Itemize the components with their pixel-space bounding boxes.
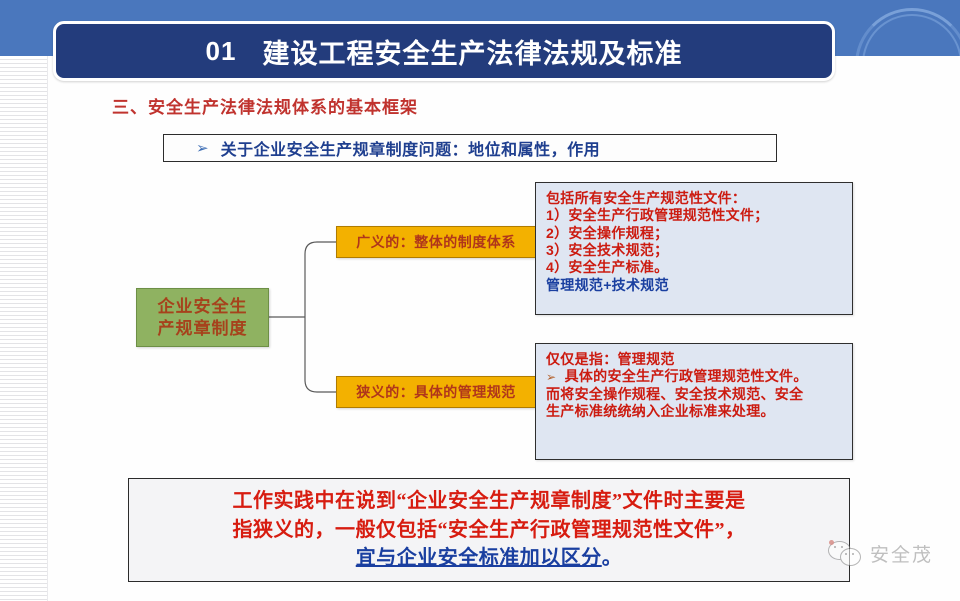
conclusion-line-1: 工作实践中在说到“企业安全生产规章制度”文件时主要是 <box>233 487 746 515</box>
slide-number: 01 <box>206 36 237 67</box>
section-heading: 三、安全生产法律法规体系的基本框架 <box>112 93 418 118</box>
detail-broad-heading: 包括所有安全生产规范性文件： <box>546 190 842 207</box>
diagram-root-line2: 产规章制度 <box>158 319 248 338</box>
conclusion-box: 工作实践中在说到“企业安全生产规章制度”文件时主要是 指狭义的，一般仅包括“安全… <box>128 478 850 582</box>
slide-canvas: 01 建设工程安全生产法律法规及标准 三、安全生产法律法规体系的基本框架 ➢ 关… <box>0 0 960 601</box>
diagram-root-node: 企业安全生 产规章制度 <box>136 288 269 347</box>
slide-title-bar: 01 建设工程安全生产法律法规及标准 <box>53 21 835 81</box>
detail-narrow-bullet-item: 具体的安全生产行政管理规范性文件。 <box>565 368 808 384</box>
detail-broad-item-3: 3）安全技术规范； <box>546 242 842 259</box>
conclusion-underlined-text: 宜与企业安全标准加以区分 <box>356 547 602 569</box>
diagram-detail-box-broad: 包括所有安全生产规范性文件： 1）安全生产行政管理规范性文件； 2）安全操作规程… <box>535 182 853 315</box>
detail-broad-item-1: 1）安全生产行政管理规范性文件； <box>546 207 842 224</box>
conclusion-line-3-tail: 。 <box>602 547 623 569</box>
diagram-detail-box-narrow: 仅仅是指：管理规范 ➢ 具体的安全生产行政管理规范性文件。 而将安全操作规程、安… <box>535 343 853 460</box>
detail-narrow-arrow-icon: ➢ <box>546 370 556 384</box>
detail-narrow-tail-line2: 生产标准统统纳入企业标准来处理。 <box>546 403 842 420</box>
detail-narrow-heading: 仅仅是指：管理规范 <box>546 351 842 368</box>
arrow-bullet-icon: ➢ <box>196 141 209 156</box>
diagram-root-line1: 企业安全生 <box>158 297 248 316</box>
detail-broad-footer: 管理规范+技术规范 <box>546 277 842 294</box>
conclusion-line-2: 指狭义的，一般仅包括“安全生产行政管理规范性文件”， <box>233 516 746 544</box>
watermark: 安全茂 <box>828 540 933 567</box>
sub-heading-text: 关于企业安全生产规章制度问题：地位和属性，作用 <box>221 136 601 160</box>
detail-broad-item-4: 4）安全生产标准。 <box>546 259 842 276</box>
watermark-text: 安全茂 <box>870 540 933 567</box>
page-title: 建设工程安全生产法律法规及标准 <box>262 32 682 71</box>
diagram-branch-label-narrow: 狭义的：具体的管理规范 <box>336 376 536 408</box>
detail-narrow-tail-line1: 而将安全操作规程、安全技术规范、安全 <box>546 386 842 403</box>
sub-heading-box: ➢ 关于企业安全生产规章制度问题：地位和属性，作用 <box>163 134 777 162</box>
left-stripe-decoration <box>0 56 48 601</box>
conclusion-line-3: 宜与企业安全标准加以区分。 <box>356 544 623 572</box>
wechat-icon <box>828 541 862 567</box>
detail-broad-item-2: 2）安全操作规程； <box>546 225 842 242</box>
diagram-branch-label-broad: 广义的：整体的制度体系 <box>336 226 536 258</box>
